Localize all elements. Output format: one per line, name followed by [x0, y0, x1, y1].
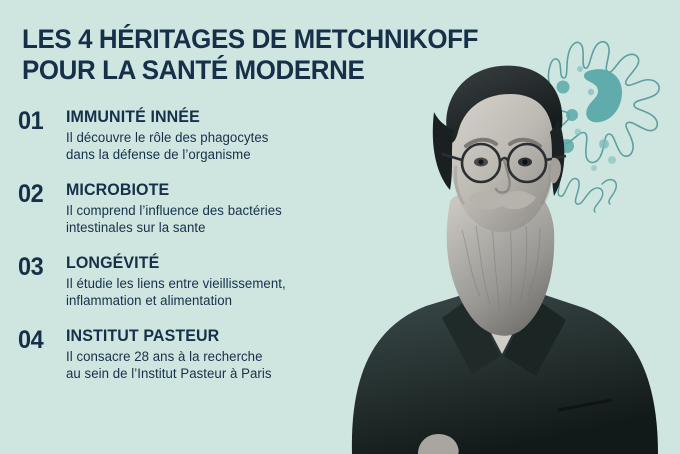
item-body-02: MICROBIOTE Il comprend l’influence des b… [66, 181, 348, 236]
item-description-04: Il consacre 28 ans à la recherche au sei… [66, 348, 342, 382]
list-item: 03 LONGÉVITÉ Il étudie les liens entre v… [18, 254, 348, 316]
item-number-02: 02 [18, 181, 61, 207]
item-desc-line-2: au sein de l’Institut Pasteur à Paris [66, 365, 342, 382]
item-desc-line-2: intestinales sur la sante [66, 219, 342, 236]
item-desc-line-2: inflammation et alimentation [66, 292, 342, 309]
metchnikoff-portrait [322, 34, 680, 454]
item-desc-line-1: Il comprend l’influence des bactéries [66, 202, 342, 219]
page-title: LES 4 HÉRITAGES DE METCHNIKOFF POUR LA S… [22, 24, 497, 86]
list-item: 02 MICROBIOTE Il comprend l’influence de… [18, 181, 348, 243]
item-body-04: INSTITUT PASTEUR Il consacre 28 ans à la… [66, 327, 348, 382]
item-number-03: 03 [18, 254, 61, 280]
item-desc-line-1: Il découvre le rôle des phagocytes [66, 129, 342, 146]
title-line-1: LES 4 HÉRITAGES DE METCHNIKOFF [22, 24, 478, 55]
list-item: 04 INSTITUT PASTEUR Il consacre 28 ans à… [18, 327, 348, 389]
item-description-01: Il découvre le rôle des phagocytes dans … [66, 129, 342, 163]
item-heading-02: MICROBIOTE [66, 181, 340, 200]
legacy-list: 01 IMMUNITÉ INNÉE Il découvre le rôle de… [18, 108, 348, 400]
item-description-02: Il comprend l’influence des bactéries in… [66, 202, 342, 236]
item-desc-line-1: Il étudie les liens entre vieillissement… [66, 275, 342, 292]
item-desc-line-2: dans la défense de l’organisme [66, 146, 342, 163]
infographic-poster: LES 4 HÉRITAGES DE METCHNIKOFF POUR LA S… [0, 0, 680, 454]
item-body-03: LONGÉVITÉ Il étudie les liens entre viei… [66, 254, 348, 309]
item-heading-01: IMMUNITÉ INNÉE [66, 108, 340, 127]
item-desc-line-1: Il consacre 28 ans à la recherche [66, 348, 342, 365]
title-line-2: POUR LA SANTÉ MODERNE [22, 55, 478, 86]
item-body-01: IMMUNITÉ INNÉE Il découvre le rôle des p… [66, 108, 348, 163]
item-number-04: 04 [18, 327, 61, 353]
item-heading-03: LONGÉVITÉ [66, 254, 340, 273]
item-number-01: 01 [18, 108, 61, 134]
list-item: 01 IMMUNITÉ INNÉE Il découvre le rôle de… [18, 108, 348, 170]
item-heading-04: INSTITUT PASTEUR [66, 327, 340, 346]
item-description-03: Il étudie les liens entre vieillissement… [66, 275, 342, 309]
